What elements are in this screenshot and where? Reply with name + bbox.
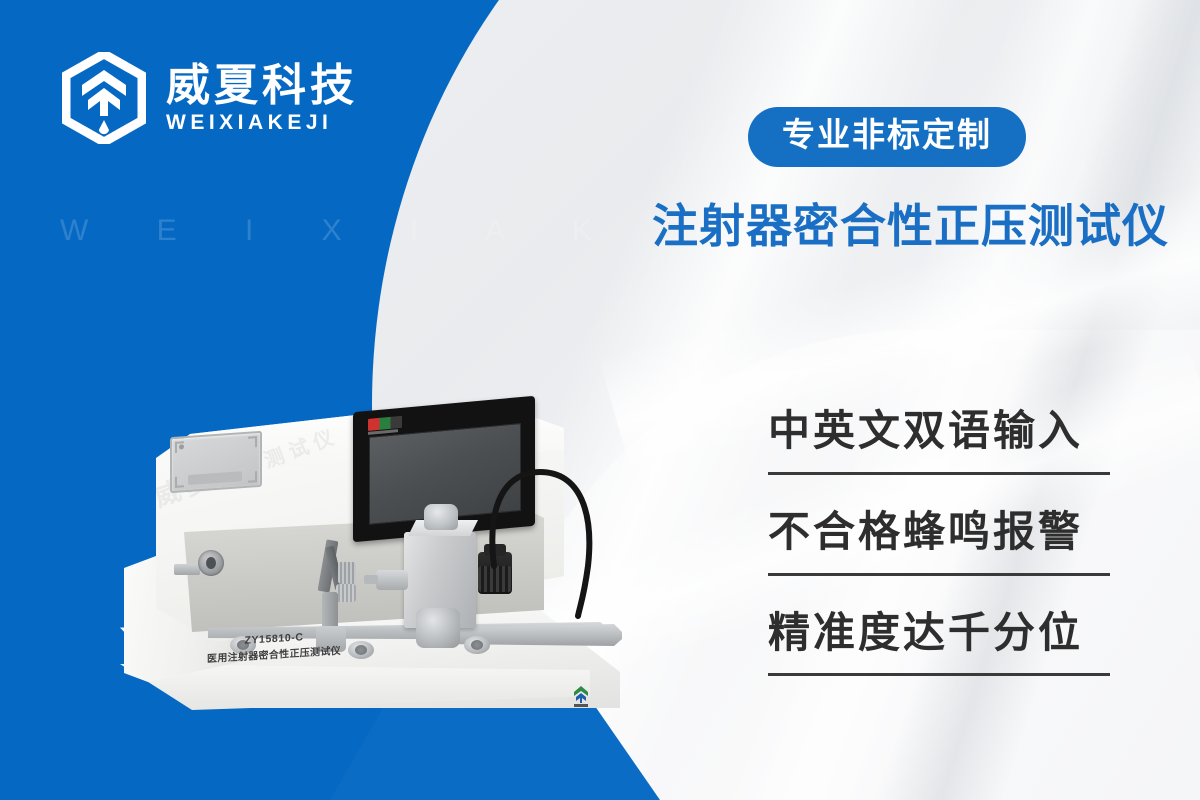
- list-item: 精准度达千分位: [768, 606, 1114, 707]
- feature-divider: [768, 673, 1110, 676]
- brand-name-cn: 威夏科技: [166, 63, 358, 109]
- roller-hub: [471, 640, 483, 650]
- feature-label: 中英文双语输入: [768, 404, 1114, 458]
- brand-wordmark: 威夏科技 WEIXIAKEJI: [166, 63, 358, 132]
- plate-corner-bracket: [175, 476, 184, 488]
- machine-access-plate: [170, 431, 262, 493]
- feature-divider: [768, 472, 1110, 475]
- hexagon-arrow-logo-icon: [62, 52, 146, 144]
- certification-sticker-icon: [568, 684, 594, 708]
- page-title: 注射器密合性正压测试仪: [652, 199, 1169, 254]
- product-banner: 威夏科技 WEIXIAKEJI W E I X I A K E J I 专业非标…: [0, 0, 1200, 800]
- connector-cap: [484, 544, 506, 556]
- machine-air-port: [198, 550, 224, 576]
- product-image: 威夏科 测试仪: [112, 392, 672, 737]
- block-lower-knob[interactable]: [416, 608, 460, 648]
- list-item: 中英文双语输入: [768, 404, 1114, 505]
- connector-ribbed-grip: [478, 566, 512, 592]
- pressure-head-block[interactable]: [404, 532, 476, 628]
- block-side-shaft: [364, 575, 378, 584]
- custom-service-badge: 专业非标定制: [748, 107, 1026, 167]
- feature-divider: [768, 573, 1110, 576]
- feature-label: 不合格蜂鸣报警: [768, 505, 1114, 559]
- brand-logo: 威夏科技 WEIXIAKEJI: [62, 52, 358, 144]
- rail-roller-foot: [464, 636, 490, 654]
- clamp-knurled-wheel-lower[interactable]: [336, 584, 356, 602]
- clamp-knurled-wheel[interactable]: [338, 562, 356, 584]
- machine-side-stub: [174, 564, 200, 575]
- sensor-connector[interactable]: [478, 552, 512, 594]
- feature-label: 精准度达千分位: [768, 606, 1114, 660]
- block-side-knob[interactable]: [376, 570, 408, 590]
- list-item: 不合格蜂鸣报警: [768, 505, 1114, 606]
- plate-corner-bracket: [175, 441, 184, 453]
- brand-name-en: WEIXIAKEJI: [166, 112, 358, 133]
- block-top-knob[interactable]: [424, 504, 458, 530]
- plate-corner-bracket: [248, 436, 257, 448]
- plate-vent-slot: [188, 471, 242, 485]
- feature-list: 中英文双语输入 不合格蜂鸣报警 精准度达千分位: [768, 404, 1114, 706]
- air-port-hole: [206, 557, 216, 569]
- plate-corner-bracket: [248, 471, 257, 483]
